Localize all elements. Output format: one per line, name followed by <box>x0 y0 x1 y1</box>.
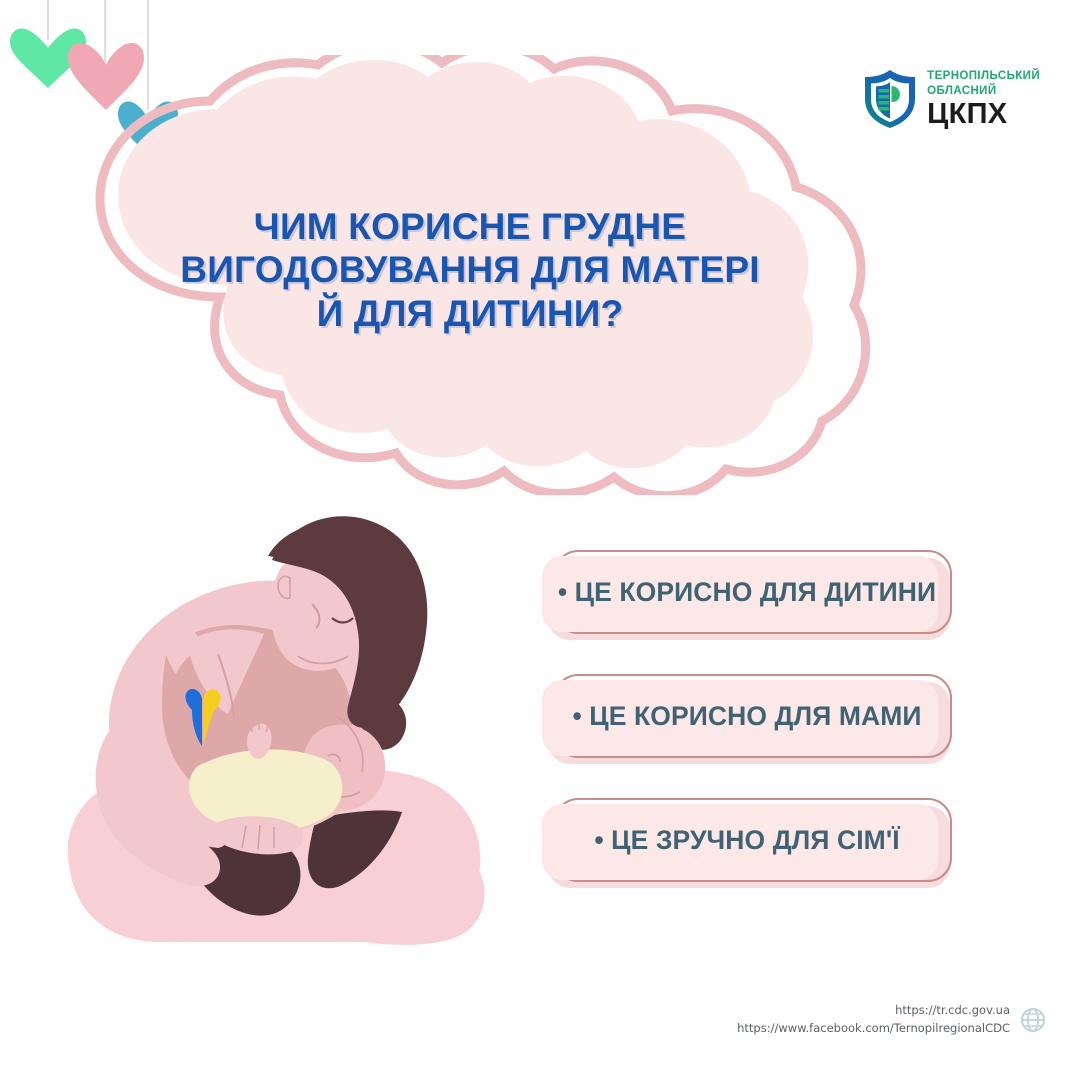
mother-breastfeeding-illustration <box>40 470 510 970</box>
shield-icon <box>862 68 918 130</box>
organization-logo[interactable]: ТЕРНОПІЛЬСЬКИЙ ОБЛАСНИЙ ЦКПХ <box>862 68 1040 130</box>
benefit-label-family: • ЦЕ ЗРУЧНО ДЛЯ СІМ'Ї <box>540 796 954 884</box>
page-title: ЧИМ КОРИСНЕ ГРУДНЕ ВИГОДОВУВАННЯ ДЛЯ МАТ… <box>110 205 830 335</box>
benefit-label-mother: • ЦЕ КОРИСНО ДЛЯ МАМИ <box>540 672 954 760</box>
footer-links: https://tr.cdc.gov.ua https://www.facebo… <box>737 1002 1046 1038</box>
website-url[interactable]: https://tr.cdc.gov.ua <box>737 1002 1010 1020</box>
logo-abbreviation: ЦКПХ <box>927 100 1040 129</box>
facebook-url[interactable]: https://www.facebook.com/Ternopilregiona… <box>737 1020 1010 1038</box>
benefit-item-child[interactable]: • ЦЕ КОРИСНО ДЛЯ ДИТИНИ <box>540 548 960 636</box>
globe-icon <box>1020 1007 1046 1033</box>
benefit-item-mother[interactable]: • ЦЕ КОРИСНО ДЛЯ МАМИ <box>540 672 960 760</box>
logo-org-name: ТЕРНОПІЛЬСЬКИЙ ОБЛАСНИЙ <box>927 69 1040 98</box>
benefit-item-family[interactable]: • ЦЕ ЗРУЧНО ДЛЯ СІМ'Ї <box>540 796 960 884</box>
poster-canvas: ЧИМ КОРИСНЕ ГРУДНЕ ВИГОДОВУВАННЯ ДЛЯ МАТ… <box>0 0 1080 1080</box>
benefits-list: • ЦЕ КОРИСНО ДЛЯ ДИТИНИ • ЦЕ КОРИСНО ДЛЯ… <box>540 548 960 920</box>
benefit-label-child: • ЦЕ КОРИСНО ДЛЯ ДИТИНИ <box>540 548 954 636</box>
